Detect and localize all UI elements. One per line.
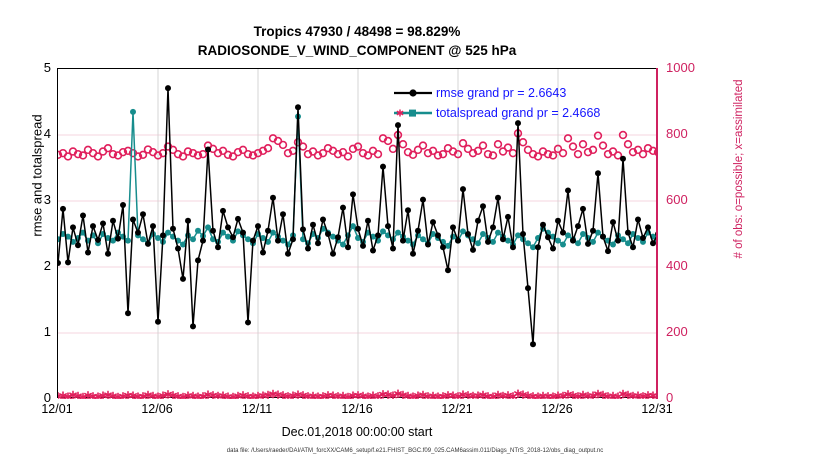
y-axis-ticks-right: 02004006008001000: [666, 0, 716, 330]
right-axis-spine: [656, 68, 658, 399]
y-tick-label-left: 1: [23, 324, 51, 339]
y-tick-label-right: 200: [666, 324, 712, 339]
y-tick-label-right: 600: [666, 192, 712, 207]
x-axis-label: Dec.01,2018 00:00:00 start: [57, 425, 657, 439]
y-tick-label-left: 2: [23, 258, 51, 273]
legend-label-totalspread: totalspread grand pr = 2.4668: [436, 103, 600, 123]
legend-label-rmse: rmse grand pr = 2.6643: [436, 83, 566, 103]
x-tick-label: 12/31: [641, 402, 672, 416]
x-tick-label: 12/11: [242, 402, 272, 416]
y-tick-label-left: 5: [23, 60, 51, 75]
y-tick-label-left: 4: [23, 126, 51, 141]
y-axis-ticks-left: 012345: [19, 0, 51, 330]
legend-marker-square-asterisk-icon: [392, 105, 434, 121]
chart-title: Tropics 47930 / 48498 = 98.829% RADIOSON…: [57, 22, 657, 60]
legend-marker-circle-icon: [392, 85, 434, 101]
x-tick-label: 12/06: [141, 402, 172, 416]
y-tick-label-right: 1000: [666, 60, 712, 75]
data-file-footer: data file: /Users/raeder/DAI/ATM_forcXX/…: [0, 448, 830, 454]
y-tick-label-right: 400: [666, 258, 712, 273]
figure-container: Tropics 47930 / 48498 = 98.829% RADIOSON…: [0, 0, 830, 470]
legend-item-totalspread[interactable]: totalspread grand pr = 2.4668: [392, 103, 600, 123]
y-tick-label-right: 800: [666, 126, 712, 141]
chart-legend: rmse grand pr = 2.6643 totalspread grand…: [392, 83, 600, 123]
y-axis-label-right: # of obs: o=possible; x=assimilated: [733, 24, 745, 314]
chart-title-line1: Tropics 47930 / 48498 = 98.829%: [57, 22, 657, 41]
x-tick-label: 12/01: [41, 402, 72, 416]
x-tick-label: 12/21: [441, 402, 472, 416]
x-tick-label: 12/26: [541, 402, 572, 416]
chart-title-line2: RADIOSONDE_V_WIND_COMPONENT @ 525 hPa: [57, 41, 657, 60]
y-tick-label-right: 0: [666, 390, 712, 405]
y-tick-label-left: 3: [23, 192, 51, 207]
legend-item-rmse[interactable]: rmse grand pr = 2.6643: [392, 83, 600, 103]
x-tick-label: 12/16: [341, 402, 372, 416]
